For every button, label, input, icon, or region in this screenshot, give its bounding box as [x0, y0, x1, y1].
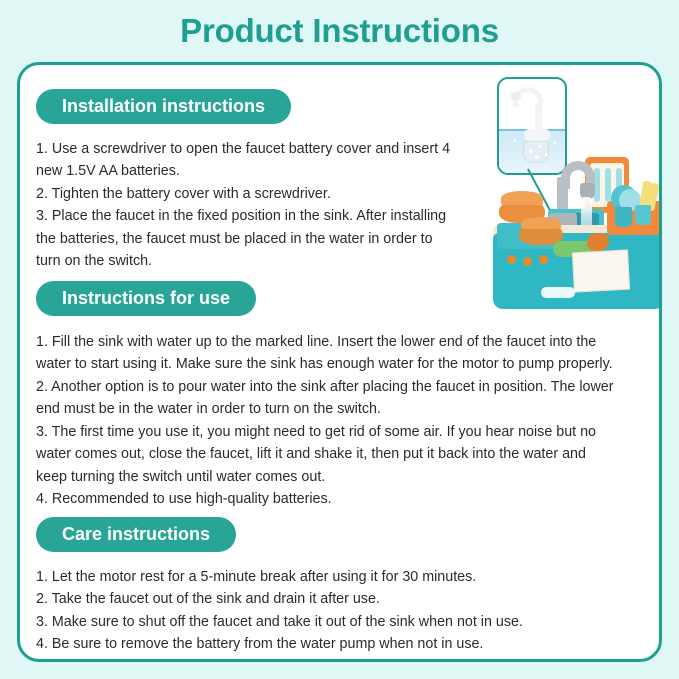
section-body-use: 1. Fill the sink with water up to the ma… [36, 331, 644, 511]
section-installation: Installation instructions 1. Use a screw… [36, 89, 506, 273]
instruction-line: the batteries, the faucet must be placed… [36, 228, 506, 250]
stove-knob [507, 255, 516, 264]
instruction-line: 2. Another option is to pour water into … [36, 376, 644, 398]
instruction-line: end must be in the water in order to tur… [36, 398, 644, 420]
inset-faucet-tip-icon [510, 92, 521, 100]
stove-knob [523, 257, 532, 266]
instructions-card: Installation instructions 1. Use a screw… [17, 62, 662, 662]
instruction-line: 4. Recommended to use high-quality batte… [36, 488, 644, 510]
toy-food [587, 233, 609, 251]
instruction-line: turn on the switch. [36, 250, 506, 272]
instruction-sheet: Product Instructions [0, 0, 679, 679]
section-care-instructions: Care instructions 1. Let the motor rest … [36, 517, 596, 656]
toy-pot-lid [501, 191, 543, 205]
faucet-detail-inset [497, 77, 567, 175]
page-title: Product Instructions [0, 12, 679, 50]
instruction-line: 2. Take the faucet out of the sink and d… [36, 588, 596, 610]
instruction-line: 3. Make sure to shut off the faucet and … [36, 611, 596, 633]
bubble-icon [535, 155, 539, 159]
instruction-line: 2. Tighten the battery cover with a scre… [36, 183, 506, 205]
toy-cup [635, 205, 651, 225]
inset-pump-body [524, 129, 550, 141]
section-body-installation: 1. Use a screwdriver to open the faucet … [36, 138, 506, 273]
inset-pump-strainer [523, 141, 549, 163]
instruction-line: 3. The first time you use it, you might … [36, 421, 644, 443]
bubble-icon [529, 149, 533, 153]
instruction-line: water comes out, close the faucet, lift … [36, 443, 644, 465]
bubble-icon [539, 145, 542, 148]
section-body-care: 1. Let the motor rest for a 5-minute bre… [36, 566, 596, 656]
instruction-line: 1. Let the motor rest for a 5-minute bre… [36, 566, 596, 588]
bubble-icon [545, 153, 548, 156]
toy-cup [615, 207, 632, 227]
instruction-line: keep turning the switch until water come… [36, 466, 644, 488]
section-instructions-for-use: Instructions for use 1. Fill the sink wi… [36, 281, 644, 511]
instruction-line: 4. Be sure to remove the battery from th… [36, 633, 596, 655]
section-badge-care: Care instructions [36, 517, 236, 552]
stove-knob [539, 255, 548, 264]
instruction-line: water to start using it. Make sure the s… [36, 353, 644, 375]
toy-pan-lid [521, 217, 561, 229]
bubble-icon [553, 141, 556, 144]
instruction-line: 1. Use a screwdriver to open the faucet … [36, 138, 506, 160]
instruction-line: 1. Fill the sink with water up to the ma… [36, 331, 644, 353]
instruction-line: new 1.5V AA batteries. [36, 160, 506, 182]
section-badge-use: Instructions for use [36, 281, 256, 316]
section-badge-installation: Installation instructions [36, 89, 291, 124]
instruction-line: 3. Place the faucet in the fixed positio… [36, 205, 506, 227]
bubble-icon [513, 139, 516, 142]
